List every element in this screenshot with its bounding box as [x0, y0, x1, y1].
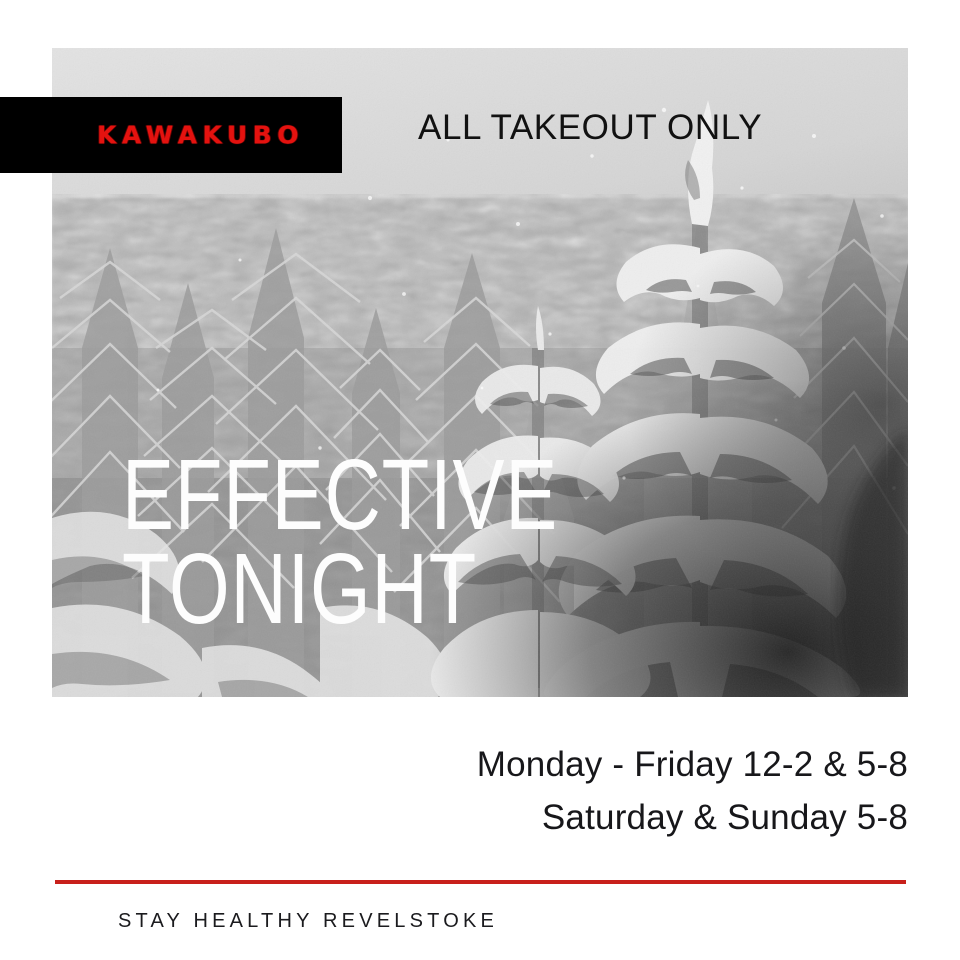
takeout-notice: ALL TAKEOUT ONLY: [418, 108, 762, 148]
footer-tagline: STAY HEALTHY REVELSTOKE: [118, 910, 498, 933]
hours-block: Monday - Friday 12-2 & 5-8 Saturday & Su…: [477, 738, 908, 844]
headline: EFFECTIVE TONIGHT: [122, 448, 558, 636]
headline-line-2: TONIGHT: [122, 542, 558, 636]
hours-weekend: Saturday & Sunday 5-8: [477, 791, 908, 844]
brand-bar: KAWAKUBO: [0, 97, 342, 173]
poster-canvas: KAWAKUBO ALL TAKEOUT ONLY EFFECTIVE TONI…: [0, 0, 960, 960]
hours-weekdays: Monday - Friday 12-2 & 5-8: [477, 738, 908, 791]
headline-line-1: EFFECTIVE: [122, 448, 558, 542]
brand-wordmark: KAWAKUBO: [97, 123, 304, 148]
footer-divider: [55, 880, 906, 884]
